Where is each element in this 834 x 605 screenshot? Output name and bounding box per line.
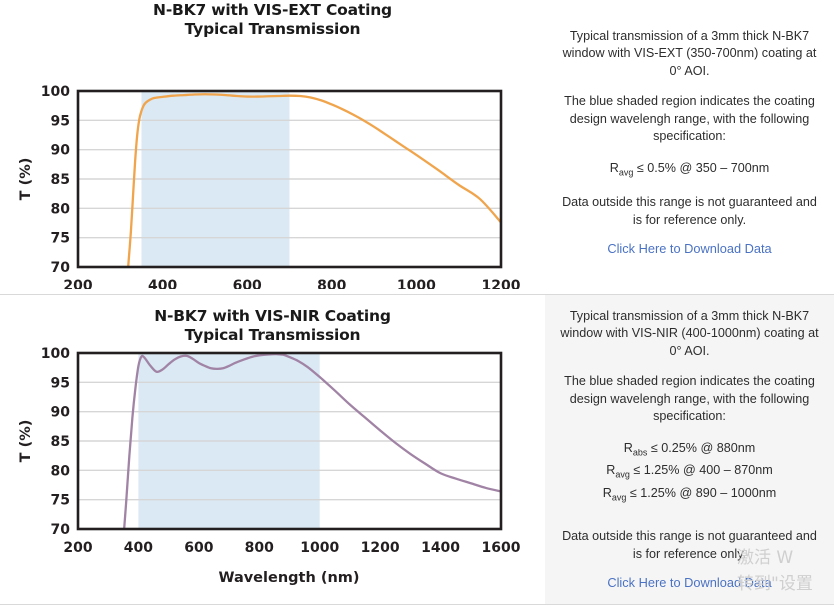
spec-subscript: avg — [615, 470, 630, 480]
x-tick-label: 600 — [233, 278, 262, 289]
download-data-link[interactable]: Click Here to Download Data — [607, 574, 771, 592]
info-paragraph-shading: The blue shaded region indicates the coa… — [559, 373, 821, 426]
chart-title-vis-nir: N-BK7 with VIS-NIR Coating Typical Trans… — [0, 295, 545, 345]
chart-title-line2: Typical Transmission — [0, 326, 545, 345]
y-axis-title: T (%) — [18, 158, 34, 201]
spec-symbol: R — [603, 486, 612, 500]
y-tick-label: 90 — [51, 405, 71, 421]
y-tick-labels: 100959085807570 — [41, 84, 70, 276]
spec-symbol: R — [610, 161, 619, 175]
spec-subscript: avg — [612, 492, 627, 502]
y-tick-label: 80 — [51, 201, 71, 217]
y-tick-label: 75 — [51, 493, 70, 509]
info-paragraph-description: Typical transmission of a 3mm thick N-BK… — [559, 28, 821, 81]
y-tick-label: 95 — [51, 113, 70, 129]
y-axis-title: T (%) — [18, 420, 34, 463]
page-root: N-BK7 with VIS-EXT Coating Typical Trans… — [0, 0, 834, 605]
row-vis-nir: N-BK7 with VIS-NIR Coating Typical Trans… — [0, 295, 834, 605]
y-tick-label: 100 — [41, 346, 70, 362]
specification-line: Rabs ≤ 0.25% @ 880nm — [559, 439, 821, 462]
chart-svg-vis-ext: 100959085807570 20040060080010001200 T (… — [0, 39, 545, 289]
x-tick-labels: 2004006008001000120014001600 — [63, 540, 520, 556]
chart-title-vis-ext: N-BK7 with VIS-EXT Coating Typical Trans… — [0, 0, 545, 39]
x-tick-label: 800 — [317, 278, 346, 289]
plot-area-vis-nir: 100959085807570 200400600800100012001400… — [0, 345, 545, 600]
row-divider — [0, 294, 834, 295]
y-tick-labels: 100959085807570 — [41, 346, 70, 538]
x-tick-label: 1600 — [482, 540, 521, 556]
specification-list: Ravg ≤ 0.5% @ 350 – 700nm — [559, 159, 821, 182]
chart-title-line1: N-BK7 with VIS-EXT Coating — [153, 1, 392, 19]
spec-value: ≤ 1.25% @ 890 – 1000nm — [626, 486, 776, 500]
spec-subscript: avg — [619, 167, 634, 177]
plot-area-vis-ext: 100959085807570 20040060080010001200 T (… — [0, 39, 545, 289]
specification-line: Ravg ≤ 1.25% @ 400 – 870nm — [559, 461, 821, 484]
y-tick-label: 85 — [51, 434, 70, 450]
x-tick-labels: 20040060080010001200 — [63, 278, 520, 289]
spec-value: ≤ 1.25% @ 400 – 870nm — [630, 463, 773, 477]
spec-value: ≤ 0.25% @ 880nm — [647, 441, 755, 455]
x-tick-label: 200 — [63, 278, 92, 289]
info-panel-vis-ext: Typical transmission of a 3mm thick N-BK… — [545, 0, 834, 294]
x-tick-label: 800 — [245, 540, 274, 556]
y-tick-label: 70 — [51, 522, 71, 538]
chart-title-line1: N-BK7 with VIS-NIR Coating — [154, 307, 390, 325]
specification-list: Rabs ≤ 0.25% @ 880nmRavg ≤ 1.25% @ 400 –… — [559, 439, 821, 507]
info-paragraph-description: Typical transmission of a 3mm thick N-BK… — [559, 308, 821, 361]
spec-subscript: abs — [633, 447, 648, 457]
x-tick-label: 400 — [148, 278, 177, 289]
y-tick-label: 85 — [51, 172, 70, 188]
specification-line: Ravg ≤ 0.5% @ 350 – 700nm — [559, 159, 821, 182]
row-vis-ext: N-BK7 with VIS-EXT Coating Typical Trans… — [0, 0, 834, 294]
x-tick-label: 1400 — [421, 540, 460, 556]
spec-value: ≤ 0.5% @ 350 – 700nm — [633, 161, 769, 175]
info-panel-vis-nir: Typical transmission of a 3mm thick N-BK… — [545, 295, 834, 605]
y-tick-label: 90 — [51, 143, 71, 159]
x-tick-label: 200 — [63, 540, 92, 556]
chart-cell-vis-nir: N-BK7 with VIS-NIR Coating Typical Trans… — [0, 295, 545, 605]
info-paragraph-shading: The blue shaded region indicates the coa… — [559, 93, 821, 146]
x-tick-label: 1000 — [300, 540, 339, 556]
x-tick-label: 1200 — [482, 278, 521, 289]
chart-cell-vis-ext: N-BK7 with VIS-EXT Coating Typical Trans… — [0, 0, 545, 294]
y-tick-label: 70 — [51, 260, 71, 276]
download-data-link[interactable]: Click Here to Download Data — [607, 240, 771, 258]
spec-symbol: R — [606, 463, 615, 477]
x-tick-label: 600 — [184, 540, 213, 556]
info-paragraph-disclaimer: Data outside this range is not guarantee… — [559, 528, 821, 563]
x-tick-label: 1200 — [361, 540, 400, 556]
x-axis-title: Wavelength (nm) — [218, 570, 359, 586]
y-tick-label: 100 — [41, 84, 70, 100]
y-tick-label: 80 — [51, 463, 71, 479]
chart-svg-vis-nir: 100959085807570 200400600800100012001400… — [0, 345, 545, 600]
x-tick-label: 400 — [124, 540, 153, 556]
specification-line: Ravg ≤ 1.25% @ 890 – 1000nm — [559, 484, 821, 507]
y-tick-label: 95 — [51, 375, 70, 391]
info-paragraph-disclaimer: Data outside this range is not guarantee… — [559, 194, 821, 229]
x-tick-label: 1000 — [397, 278, 436, 289]
y-tick-label: 75 — [51, 231, 70, 247]
spec-symbol: R — [624, 441, 633, 455]
chart-title-line2: Typical Transmission — [0, 20, 545, 39]
